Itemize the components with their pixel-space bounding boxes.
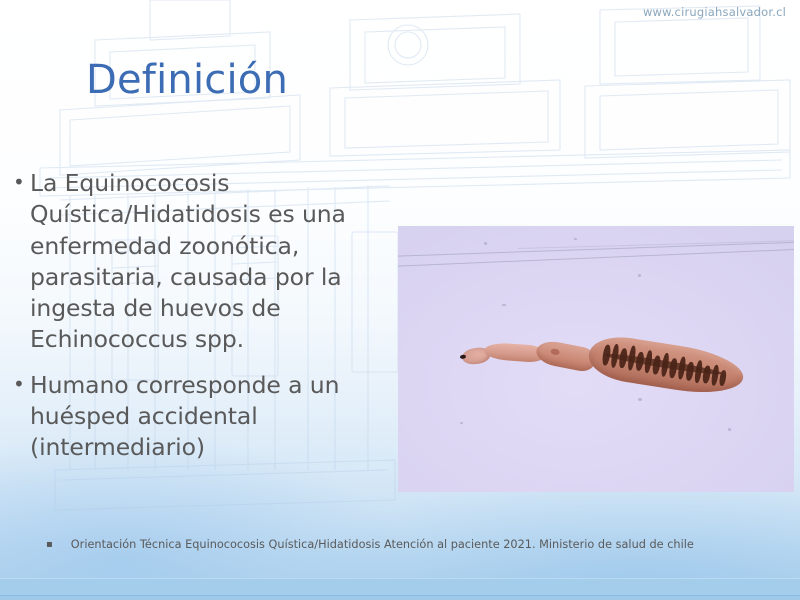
tapeworm-specimen xyxy=(462,326,746,396)
list-item: • La Equinococosis Quística/Hidatidosis … xyxy=(8,168,394,356)
site-url-text: www.cirugiahsalvador.cl xyxy=(643,5,786,19)
photo-speck xyxy=(484,242,487,245)
footnote-text: Orientación Técnica Equinococosis Quísti… xyxy=(71,538,694,551)
bullet-text: La Equinococosis Quística/Hidatidosis es… xyxy=(30,169,346,353)
bullet-dot-icon: • xyxy=(13,168,25,197)
photo-speck xyxy=(638,274,641,277)
footnote-bullet-icon: ▪ xyxy=(46,538,53,552)
gravid-proglottid xyxy=(586,332,747,400)
photo-speck xyxy=(728,428,731,431)
photo-speck xyxy=(574,238,577,240)
footnote: ▪ Orientación Técnica Equinococosis Quís… xyxy=(46,538,766,552)
bullet-list: • La Equinococosis Quística/Hidatidosis … xyxy=(8,168,394,477)
photo-speck xyxy=(460,422,463,424)
page-title: Definición xyxy=(86,58,288,102)
uterus-branches xyxy=(599,341,730,389)
bullet-text: Humano corresponde a un huésped accident… xyxy=(30,371,339,462)
bullet-dot-icon: • xyxy=(13,370,25,399)
bottom-accent-band xyxy=(0,578,800,600)
echinococcus-photograph xyxy=(398,226,794,492)
photo-speck xyxy=(638,398,642,401)
photo-speck xyxy=(502,304,506,306)
list-item: • Humano corresponde a un huésped accide… xyxy=(8,370,394,464)
slide-canvas: www.cirugiahsalvador.cl Definición • La … xyxy=(0,0,800,600)
